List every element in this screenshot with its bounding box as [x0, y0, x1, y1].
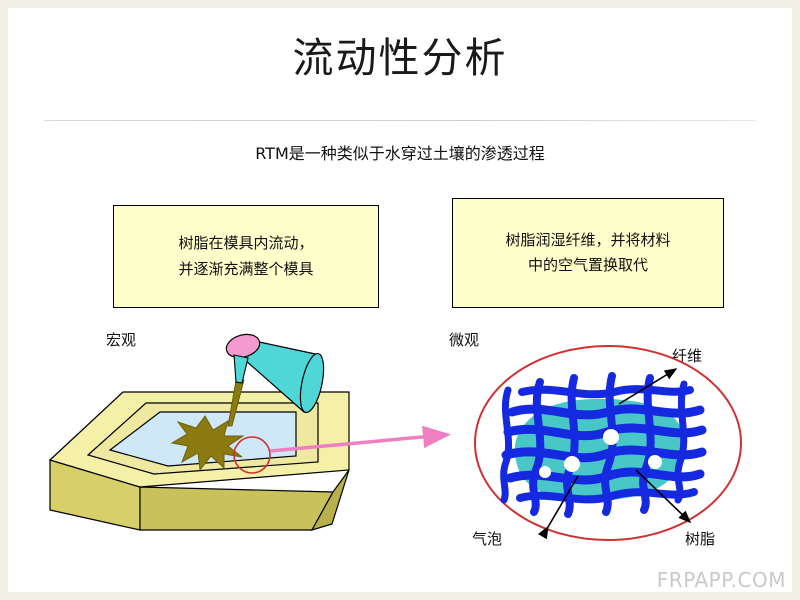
fiber-strand [506, 450, 702, 458]
mold-side-front [140, 487, 333, 530]
funnel-spout [234, 355, 248, 383]
mold-illustration [50, 331, 349, 530]
air-bubble [648, 455, 662, 469]
air-bubble [564, 456, 580, 472]
slide-canvas: 流动性分析 RTM是一种类似于水穿过土壤的渗透过程 树脂在模具内流动， 并逐渐充… [0, 0, 800, 600]
watermark: FRPAPP.COM [657, 568, 786, 592]
air-bubble [539, 466, 551, 478]
micro-illustration [475, 346, 741, 540]
air-bubble [603, 429, 619, 445]
diagram-graphics [0, 0, 800, 600]
